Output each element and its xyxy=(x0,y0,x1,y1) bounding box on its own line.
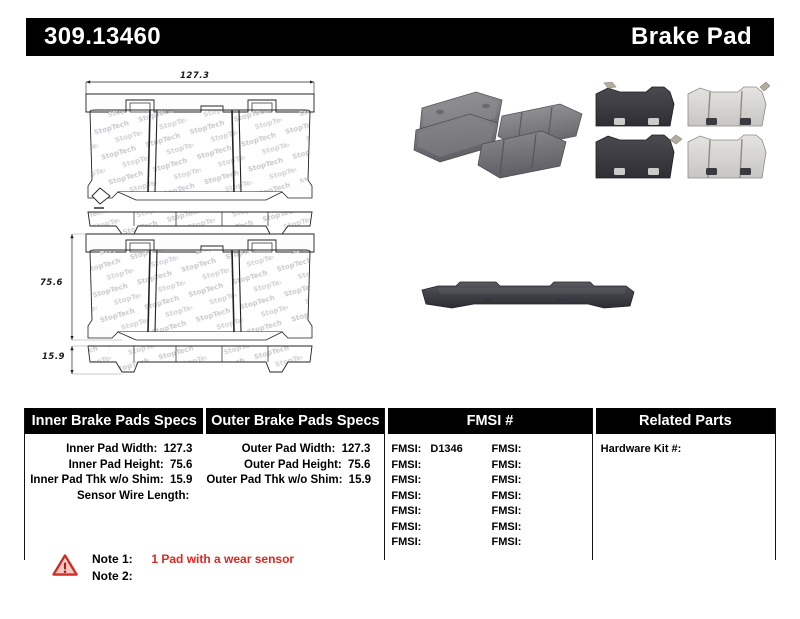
fmsi-body: FMSI: D1346 FMSI: FMSI: FMSI: FMSI: xyxy=(385,434,591,551)
page-title: Brake Pad xyxy=(631,23,774,51)
dimension-height-label: 75.6 xyxy=(40,278,63,288)
header-bar: 309.13460 Brake Pad xyxy=(26,18,774,56)
dimension-thickness-label: 15.9 xyxy=(42,352,65,362)
angled-pads-svg xyxy=(410,78,585,183)
fmsi-value xyxy=(421,536,427,548)
fmsi-value xyxy=(421,521,427,533)
pad-edge-view xyxy=(418,274,638,324)
related-label: Hardware Kit #: xyxy=(601,443,682,455)
dimension-width-label: 127.3 xyxy=(180,71,209,81)
fmsi-value xyxy=(421,474,427,486)
part-number: 309.13460 xyxy=(26,23,161,51)
spec-row: Outer Pad Height: 75.6 xyxy=(206,458,384,474)
column-header-related: Related Parts xyxy=(596,408,775,434)
spec-value: 15.9 xyxy=(346,474,371,486)
cad-drawing: StopTech StopTech xyxy=(26,62,406,392)
fmsi-label: FMSI: xyxy=(492,459,522,471)
fmsi-value xyxy=(521,474,527,486)
spec-row: Sensor Wire Length: xyxy=(25,489,206,505)
fmsi-row: FMSI: D1346 xyxy=(391,442,491,458)
spec-label: Sensor Wire Length: xyxy=(77,490,189,502)
notes-text: Note 1: 1 Pad with a wear sensor Note 2: xyxy=(92,551,294,585)
related-parts-body: Hardware Kit #: xyxy=(593,434,775,458)
fmsi-label: FMSI: xyxy=(391,521,421,533)
spec-label: Inner Pad Height: xyxy=(69,459,164,471)
fmsi-value xyxy=(421,490,427,502)
column-inner-specs: Inner Brake Pads Specs Inner Pad Width: … xyxy=(25,408,206,560)
column-header-outer: Outer Brake Pads Specs xyxy=(206,408,384,434)
fmsi-label: FMSI: xyxy=(391,459,421,471)
fmsi-value: D1346 xyxy=(424,443,462,455)
notes-section: Note 1: 1 Pad with a wear sensor Note 2: xyxy=(52,551,294,585)
fmsi-row: FMSI: xyxy=(492,504,592,520)
fmsi-value xyxy=(521,459,527,471)
fmsi-row: FMSI: xyxy=(391,520,491,536)
fmsi-row: FMSI: xyxy=(391,504,491,520)
four-pads-angled-view xyxy=(410,78,580,178)
fmsi-row: FMSI: xyxy=(492,535,592,551)
fmsi-left-column: FMSI: D1346 FMSI: FMSI: FMSI: FMSI: xyxy=(391,442,491,551)
spec-row: Inner Pad Height: 75.6 xyxy=(25,458,206,474)
related-row: Hardware Kit #: xyxy=(593,442,775,458)
fmsi-label: FMSI: xyxy=(492,505,522,517)
cad-drawing-svg: StopTech StopTech xyxy=(26,62,406,392)
spec-value: 15.9 xyxy=(167,474,192,486)
fmsi-row: FMSI: xyxy=(391,473,491,489)
spec-label: Inner Pad Thk w/o Shim: xyxy=(30,474,164,486)
spec-value: 127.3 xyxy=(339,443,371,455)
column-related-parts: Related Parts Hardware Kit #: xyxy=(592,408,775,560)
pads-front-back-grid xyxy=(590,82,770,192)
fmsi-label: FMSI: xyxy=(391,490,421,502)
fmsi-label: FMSI: xyxy=(492,443,522,455)
spec-value: 75.6 xyxy=(167,459,192,471)
spec-label: Outer Pad Width: xyxy=(242,443,336,455)
fmsi-label: FMSI: xyxy=(492,536,522,548)
spec-value: 127.3 xyxy=(161,443,193,455)
outer-specs-body: Outer Pad Width: 127.3 Outer Pad Height:… xyxy=(206,434,384,489)
fmsi-value xyxy=(521,536,527,548)
fmsi-value xyxy=(521,505,527,517)
specifications-table: Inner Brake Pads Specs Inner Pad Width: … xyxy=(24,408,776,560)
fmsi-row: FMSI: xyxy=(391,458,491,474)
fmsi-value xyxy=(421,459,427,471)
warning-triangle-icon xyxy=(52,553,78,577)
grid-pads-svg xyxy=(590,82,770,194)
fmsi-row: FMSI: xyxy=(391,535,491,551)
product-photos xyxy=(396,62,774,392)
fmsi-row: FMSI: xyxy=(492,442,592,458)
fmsi-row: FMSI: xyxy=(492,520,592,536)
spec-row: Inner Pad Thk w/o Shim: 15.9 xyxy=(25,473,206,489)
spec-row: Outer Pad Thk w/o Shim: 15.9 xyxy=(206,473,384,489)
note-2-label: Note 2: xyxy=(92,568,144,585)
fmsi-label: FMSI: xyxy=(391,536,421,548)
fmsi-row: FMSI: xyxy=(492,458,592,474)
spec-value: 75.6 xyxy=(345,459,370,471)
note-1-value: 1 Pad with a wear sensor xyxy=(147,552,294,566)
spec-label: Outer Pad Height: xyxy=(244,459,342,471)
spec-value xyxy=(189,490,192,502)
fmsi-row: FMSI: xyxy=(492,473,592,489)
fmsi-label: FMSI: xyxy=(391,505,421,517)
fmsi-value xyxy=(421,505,427,517)
note-1-line: Note 1: 1 Pad with a wear sensor xyxy=(92,551,294,568)
column-outer-specs: Outer Brake Pads Specs Outer Pad Width: … xyxy=(206,408,384,560)
fmsi-label: FMSI: xyxy=(492,521,522,533)
product-illustration-area: StopTech StopTech xyxy=(26,62,774,392)
column-header-inner: Inner Brake Pads Specs xyxy=(25,408,203,434)
note-2-line: Note 2: xyxy=(92,568,294,585)
fmsi-value xyxy=(521,443,527,455)
fmsi-value xyxy=(521,521,527,533)
fmsi-row: FMSI: xyxy=(492,489,592,505)
column-header-fmsi: FMSI # xyxy=(388,408,591,434)
fmsi-label: FMSI: xyxy=(391,474,421,486)
fmsi-label: FMSI: xyxy=(492,474,522,486)
inner-specs-body: Inner Pad Width: 127.3 Inner Pad Height:… xyxy=(25,434,206,504)
spec-label: Inner Pad Width: xyxy=(66,443,157,455)
edge-pad-svg xyxy=(418,274,640,324)
fmsi-label: FMSI: xyxy=(391,443,421,455)
note-1-label: Note 1: xyxy=(92,551,144,568)
note-2-value xyxy=(144,569,148,583)
fmsi-right-column: FMSI: FMSI: FMSI: FMSI: FMSI: xyxy=(492,442,592,551)
column-fmsi: FMSI # FMSI: D1346 FMSI: FMSI: FMSI: xyxy=(384,408,591,560)
fmsi-value xyxy=(521,490,527,502)
spec-row: Inner Pad Width: 127.3 xyxy=(25,442,206,458)
spec-row: Outer Pad Width: 127.3 xyxy=(206,442,384,458)
fmsi-label: FMSI: xyxy=(492,490,522,502)
spec-label: Outer Pad Thk w/o Shim: xyxy=(206,474,342,486)
fmsi-row: FMSI: xyxy=(391,489,491,505)
